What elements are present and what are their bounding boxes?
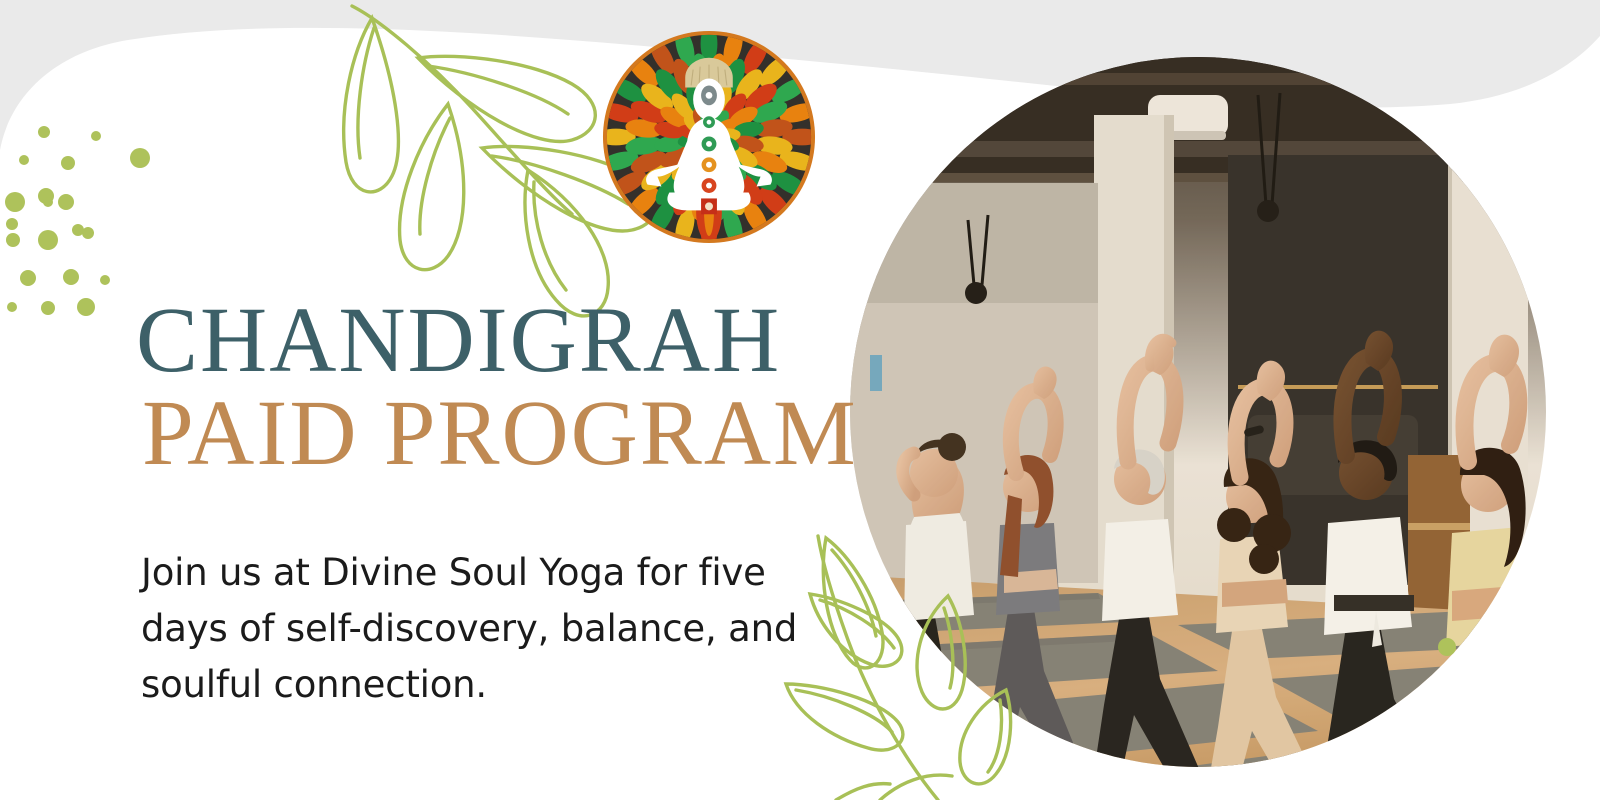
headline-block: CHANDIGRAH PAID PROGRAM <box>136 296 856 479</box>
yoga-class-photo <box>848 55 1548 800</box>
headline-line-2: PAID PROGRAM <box>142 389 856 478</box>
subcopy-text: Join us at Divine Soul Yoga for five day… <box>141 545 801 714</box>
yoga-program-banner: CHANDIGRAH PAID PROGRAM Join us at Divin… <box>0 0 1600 800</box>
photo-circle-frame <box>848 55 1548 800</box>
headline-line-1: CHANDIGRAH <box>136 296 856 385</box>
mandala-svg <box>600 28 818 246</box>
divine-soul-yoga-mandala-logo <box>600 28 818 246</box>
